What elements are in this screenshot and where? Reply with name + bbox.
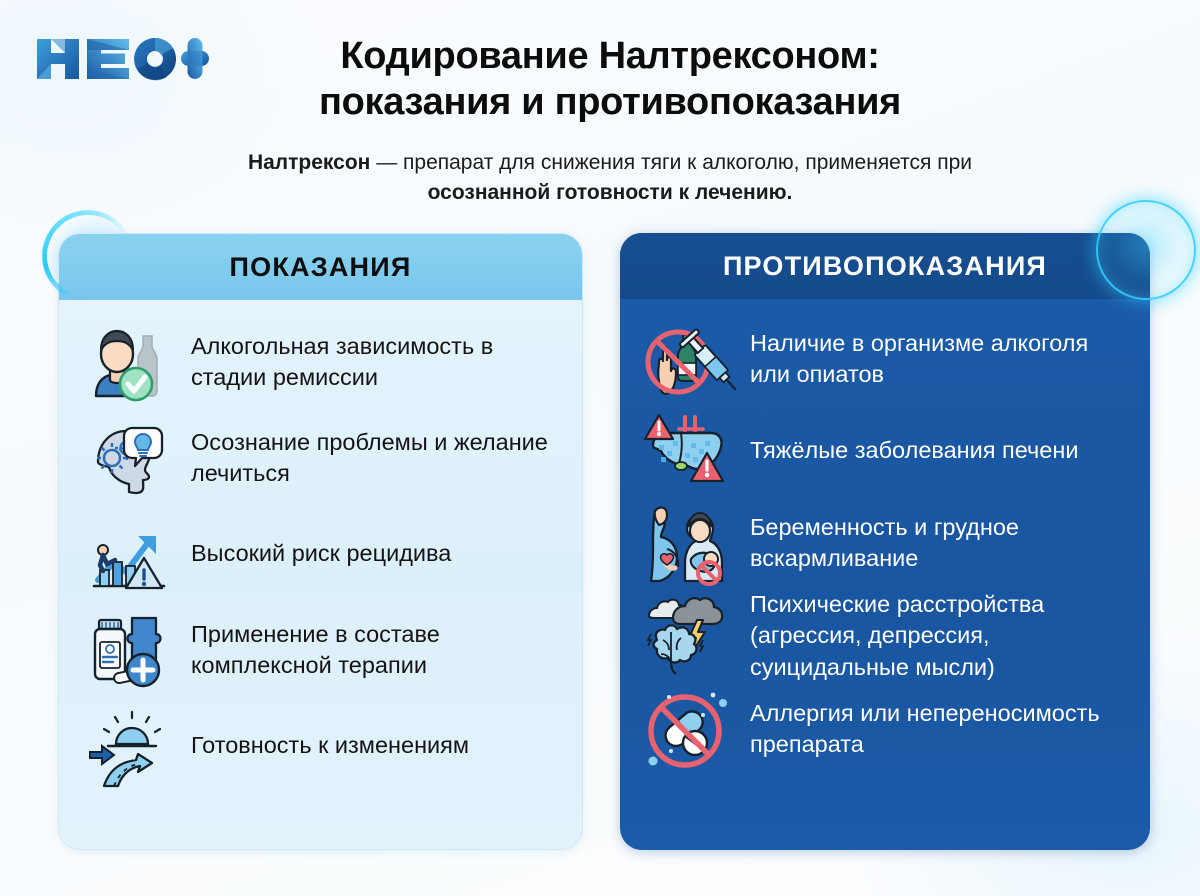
sunrise-road-arrow-icon	[87, 705, 173, 787]
list-item-label: Беременность и грудное вскармливание	[750, 512, 1130, 575]
page-subtitle: Налтрексон — препарат для снижения тяги …	[240, 148, 980, 209]
list-item-label: Осознание проблемы и желание лечиться	[191, 427, 558, 490]
risk-growth-chart-icon	[87, 513, 173, 595]
list-item-label: Психические расстройства (агрессия, депр…	[750, 589, 1130, 683]
list-item: Осознание проблемы и желание лечиться	[87, 410, 558, 506]
contraindications-heading-label: ПРОТИВОПОКАЗАНИЯ	[723, 251, 1047, 282]
list-item: Наличие в организме алкоголя или опиатов	[646, 313, 1130, 405]
infographic-page: Кодирование Налтрексоном: показания и пр…	[0, 0, 1200, 896]
pregnancy-breastfeeding-icon	[646, 502, 732, 584]
subtitle-emphasis: осознанной готовности к лечению.	[428, 181, 793, 204]
medicine-puzzle-cross-icon	[87, 609, 173, 691]
contraindications-list: Наличие в организме алкоголя или опиатов	[620, 299, 1150, 775]
list-item-label: Готовность к изменениям	[191, 730, 469, 761]
brain-storm-icon	[646, 595, 732, 677]
page-title: Кодирование Налтрексоном: показания и пр…	[215, 34, 1005, 125]
list-item: Применение в составе комплексной терапии	[87, 602, 558, 698]
list-item: Тяжёлые заболевания печени	[646, 405, 1130, 497]
list-item: Беременность и грудное вскармливание	[646, 497, 1130, 589]
title-line-2: показания и противопоказания	[215, 80, 1005, 126]
list-item: Алкогольная зависимость в стадии ремисси…	[87, 314, 558, 410]
list-item-label: Аллергия или непереносимость препарата	[750, 698, 1130, 761]
list-item-label: Наличие в организме алкоголя или опиатов	[750, 328, 1130, 391]
list-item: Аллергия или непереносимость препарата	[646, 683, 1130, 775]
list-item-label: Тяжёлые заболевания печени	[750, 435, 1078, 466]
neo-plus-logo	[35, 33, 210, 85]
contraindications-card: ПРОТИВОПОКАЗАНИЯ	[620, 233, 1150, 850]
subtitle-middle: — препарат для снижения тяги к алкоголю,…	[370, 151, 972, 174]
contraindications-card-header: ПРОТИВОПОКАЗАНИЯ	[620, 233, 1150, 299]
liver-warning-icon	[646, 410, 732, 492]
person-bottle-check-icon	[87, 321, 173, 403]
no-pills-allergy-icon	[646, 688, 732, 770]
list-item: Психические расстройства (агрессия, депр…	[646, 589, 1130, 683]
list-item-label: Высокий риск рецидива	[191, 538, 451, 569]
list-item-label: Алкогольная зависимость в стадии ремисси…	[191, 331, 558, 394]
indications-card-header: ПОКАЗАНИЯ	[59, 234, 582, 300]
head-gears-lightbulb-icon	[87, 417, 173, 499]
indications-list: Алкогольная зависимость в стадии ремисси…	[59, 300, 582, 794]
indications-heading-label: ПОКАЗАНИЯ	[230, 252, 412, 283]
indications-card: ПОКАЗАНИЯ	[58, 233, 583, 850]
list-item: Готовность к изменениям	[87, 698, 558, 794]
title-line-1: Кодирование Налтрексоном:	[215, 34, 1005, 80]
list-item: Высокий риск рецидива	[87, 506, 558, 602]
list-item-label: Применение в составе комплексной терапии	[191, 619, 558, 682]
no-alcohol-syringe-icon	[646, 318, 732, 400]
subtitle-drug-name: Налтрексон	[248, 151, 370, 174]
